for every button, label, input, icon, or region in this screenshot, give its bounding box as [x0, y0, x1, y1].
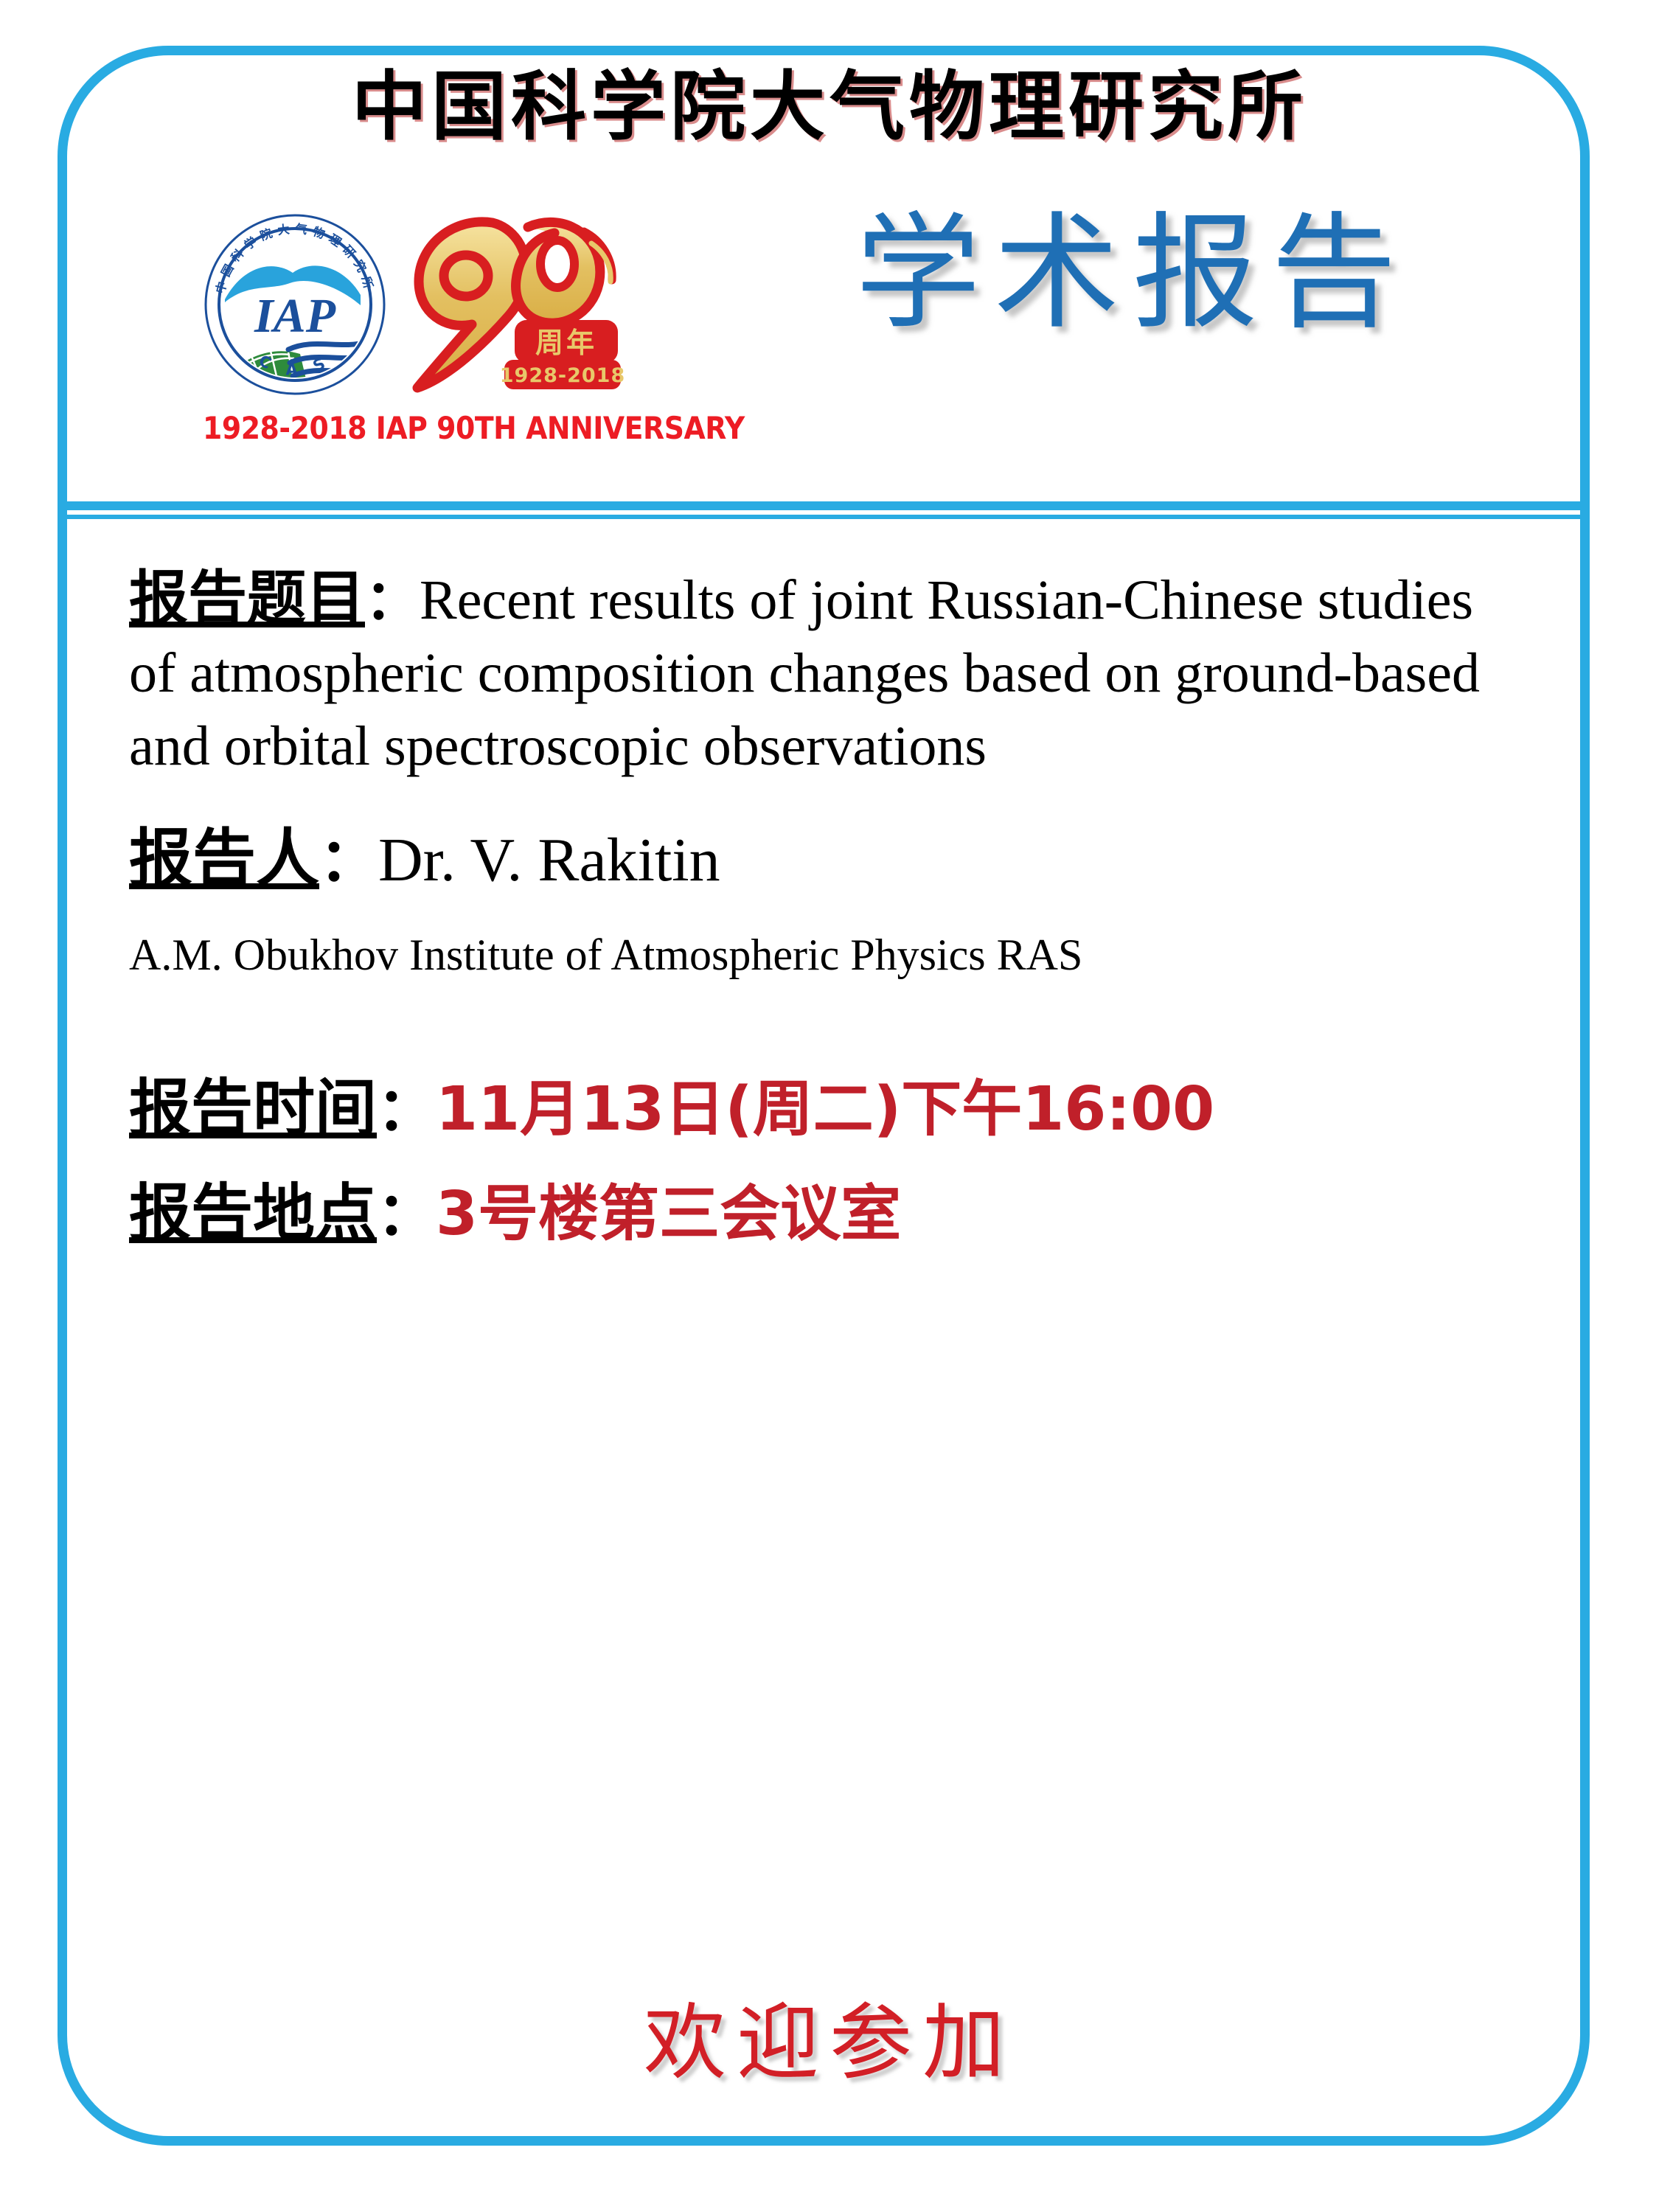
talk-title-row: 报告题目：Recent results of joint Russian-Chi… [129, 560, 1515, 783]
poster-body: 报告题目：Recent results of joint Russian-Chi… [129, 560, 1530, 1251]
talk-time-value: 11月13日(周二)下午16:00 [436, 1074, 1214, 1144]
talk-place-label: 报告地点 [129, 1177, 377, 1249]
header-row: IAP 中国科学院大气物理研究所 C A S [88, 198, 1556, 441]
talk-time-colon: ： [377, 1075, 436, 1144]
talk-title-label: 报告题目 [129, 564, 365, 633]
divider-line-thin [63, 515, 1587, 519]
talk-place-colon: ： [377, 1180, 436, 1248]
svg-text:IAP: IAP [254, 289, 336, 343]
speaker-row: 报告人：Dr. V. Rakitin [129, 821, 1530, 898]
speaker-colon: ： [319, 826, 378, 894]
seminar-heading: 学术报告 [855, 205, 1410, 343]
talk-time-label: 报告时间 [129, 1072, 377, 1144]
institute-title: 中国科学院大气物理研究所 [0, 68, 1659, 147]
iap-logo: IAP 中国科学院大气物理研究所 C A S [203, 212, 387, 397]
welcome-message: 欢迎参加 [0, 1976, 1659, 2096]
speaker-name: Dr. V. Rakitin [378, 826, 720, 894]
svg-text:周年: 周年 [535, 327, 597, 359]
divider-line-thick [63, 501, 1587, 510]
talk-place-value: 3号楼第三会议室 [436, 1179, 901, 1249]
speaker-label: 报告人 [129, 822, 319, 896]
anniversary-90-emblem: 周年 1928-2018 [398, 205, 627, 397]
speaker-affiliation: A.M. Obukhov Institute of Atmospheric Ph… [129, 925, 1338, 985]
seminar-poster: 中国科学院大气物理研究所 [0, 0, 1659, 2212]
talk-time-row: 报告时间：11月13日(周二)下午16:00 [129, 1072, 1530, 1146]
logo-cluster: IAP 中国科学院大气物理研究所 C A S [203, 198, 660, 441]
talk-title-colon: ： [365, 568, 420, 632]
svg-text:1928-2018: 1928-2018 [500, 364, 626, 387]
talk-place-row: 报告地点：3号楼第三会议室 [129, 1177, 1530, 1251]
anniversary-caption: 1928-2018 IAP 90TH ANNIVERSARY [203, 410, 614, 446]
